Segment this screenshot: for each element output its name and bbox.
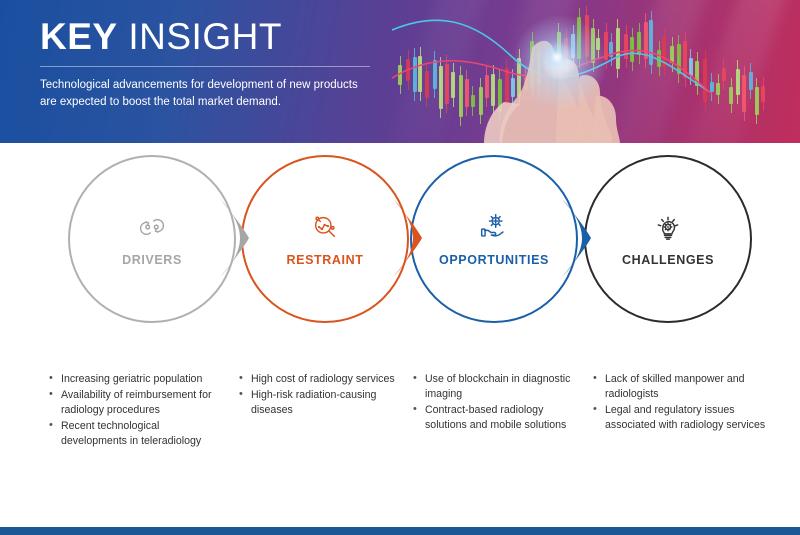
bullet-column-challenges: Lack of skilled manpower and radiologist… xyxy=(592,372,772,434)
node-label-challenges: CHALLENGES xyxy=(622,253,714,267)
bullet-column-opportunities: Use of blockchain in diagnostic imagingC… xyxy=(412,372,587,434)
node-label-opportunities: OPPORTUNITIES xyxy=(439,253,549,267)
title-light-word xyxy=(118,16,129,57)
flow-arrow-restraint xyxy=(391,199,425,277)
list-item: Use of blockchain in diagnostic imaging xyxy=(412,372,587,402)
list-item: Recent technological developments in tel… xyxy=(48,419,218,449)
title-light-text: INSIGHT xyxy=(128,16,282,57)
flow-node-drivers[interactable]: DRIVERS xyxy=(68,155,236,323)
flow-node-challenges[interactable]: CHALLENGES xyxy=(584,155,752,323)
bullet-column-drivers: Increasing geriatric populationAvailabil… xyxy=(48,372,218,450)
list-item: Lack of skilled manpower and radiologist… xyxy=(592,372,772,402)
node-label-restraint: RESTRAINT xyxy=(287,253,364,267)
bullet-list-restraint: High cost of radiology servicesHigh-risk… xyxy=(238,372,398,418)
list-item: Increasing geriatric population xyxy=(48,372,218,387)
flow-arrow-opportunities xyxy=(560,199,594,277)
hand-holding-medical-sun-icon xyxy=(477,211,511,243)
page-title: KEY INSIGHT xyxy=(40,18,400,57)
flow-arrow-drivers xyxy=(218,199,252,277)
node-content-restraint: RESTRAINT xyxy=(241,155,409,323)
footer-bar xyxy=(0,527,800,535)
title-divider xyxy=(40,66,370,67)
header-subtitle: Technological advancements for developme… xyxy=(40,77,370,110)
flow-node-opportunities[interactable]: OPPORTUNITIES xyxy=(410,155,578,323)
list-item: Legal and regulatory issues associated w… xyxy=(592,403,772,433)
bullet-list-drivers: Increasing geriatric populationAvailabil… xyxy=(48,372,218,449)
title-bold-word: KEY xyxy=(40,16,118,57)
list-item: Contract-based radiology solutions and m… xyxy=(412,403,587,433)
bullet-column-restraint: High cost of radiology servicesHigh-risk… xyxy=(238,372,398,419)
flow-diagram: DRIVERS RESTRAINT xyxy=(0,143,800,368)
list-item: Availability of reimbursement for radiol… xyxy=(48,388,218,418)
node-content-opportunities: OPPORTUNITIES xyxy=(410,155,578,323)
bullet-columns: Increasing geriatric populationAvailabil… xyxy=(0,372,800,502)
node-content-challenges: CHALLENGES xyxy=(584,155,752,323)
node-label-drivers: DRIVERS xyxy=(122,253,182,267)
flow-node-restraint[interactable]: RESTRAINT xyxy=(241,155,409,323)
bullet-list-opportunities: Use of blockchain in diagnostic imagingC… xyxy=(412,372,587,433)
magnifier-network-icon xyxy=(308,211,342,243)
node-content-drivers: DRIVERS xyxy=(68,155,236,323)
gears-cycle-icon xyxy=(135,211,169,243)
list-item: High-risk radiation-causing diseases xyxy=(238,388,398,418)
header-banner: KEY INSIGHT Technological advancements f… xyxy=(0,0,800,143)
header-text-block: KEY INSIGHT Technological advancements f… xyxy=(40,18,400,110)
bullet-list-challenges: Lack of skilled manpower and radiologist… xyxy=(592,372,772,433)
lightbulb-gear-icon xyxy=(651,211,685,243)
header-artwork xyxy=(380,0,800,143)
list-item: High cost of radiology services xyxy=(238,372,398,387)
